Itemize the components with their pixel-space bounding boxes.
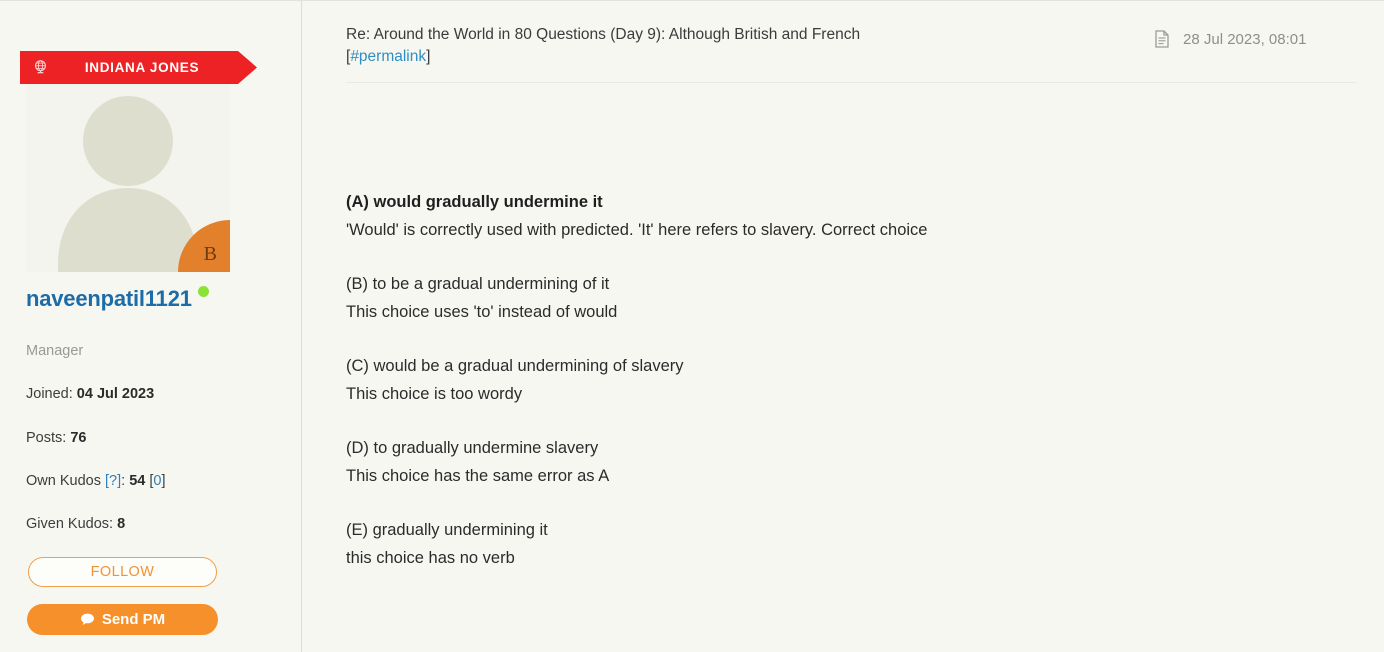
forum-post-page: INDIANA JONES B naveenpatil1121 Manager …: [0, 0, 1384, 652]
author-username[interactable]: naveenpatil1121: [26, 288, 192, 310]
online-status-indicator: [198, 286, 209, 297]
author-sidebar: INDIANA JONES B naveenpatil1121 Manager …: [0, 0, 302, 652]
post-title: Re: Around the World in 80 Questions (Da…: [346, 24, 1136, 46]
stat-given-kudos: Given Kudos: 8: [26, 516, 125, 532]
answer-explanation-text: this choice has no verb: [346, 544, 1306, 572]
globe-icon: [32, 59, 49, 76]
answer-choice-text: (D) to gradually undermine slavery: [346, 434, 1306, 462]
stat-posts-label: Posts:: [26, 430, 66, 446]
post-timestamp-text: 28 Jul 2023, 08:01: [1183, 31, 1306, 48]
answer-explanation-text: This choice uses 'to' instead of would: [346, 298, 1306, 326]
post-header: Re: Around the World in 80 Questions (Da…: [346, 24, 1136, 68]
stat-given-kudos-label: Given Kudos:: [26, 516, 113, 532]
stat-joined-label: Joined:: [26, 386, 73, 402]
permalink-link[interactable]: #permalink: [350, 48, 426, 65]
stat-own-kudos-label: Own Kudos: [26, 473, 101, 489]
answer-choice-text: (B) to be a gradual undermining of it: [346, 270, 1306, 298]
post-timestamp: 28 Jul 2023, 08:01: [1154, 30, 1306, 48]
answer-explanation-text: This choice is too wordy: [346, 380, 1306, 408]
follow-button[interactable]: FOLLOW: [28, 557, 217, 587]
rank-badge-label: INDIANA JONES: [49, 60, 257, 75]
stat-given-kudos-value: 8: [117, 516, 125, 532]
author-username-row[interactable]: naveenpatil1121: [26, 288, 209, 310]
stat-joined-value: 04 Jul 2023: [77, 386, 154, 402]
header-divider: [346, 82, 1356, 83]
send-pm-button[interactable]: Send PM: [27, 604, 218, 635]
permalink-bracket-close: ]: [426, 48, 430, 65]
stat-own-kudos-separator: :: [121, 473, 125, 489]
stat-posts: Posts: 76: [26, 430, 86, 446]
answer-choice-block: (A) would gradually undermine it 'Would'…: [346, 188, 1306, 244]
answer-choice-text: (E) gradually undermining it: [346, 516, 1306, 544]
avatar[interactable]: B: [26, 68, 230, 272]
answer-choice-block: (C) would be a gradual undermining of sl…: [346, 352, 1306, 408]
stat-posts-value: 76: [70, 430, 86, 446]
answer-explanation-text: This choice has the same error as A: [346, 462, 1306, 490]
send-pm-label: Send PM: [102, 611, 165, 628]
answer-choice-block: (D) to gradually undermine slavery This …: [346, 434, 1306, 490]
kudos-help-link[interactable]: [?]: [105, 473, 121, 489]
chat-bubble-icon: [80, 612, 95, 627]
stat-own-kudos: Own Kudos [?]: 54 [0]: [26, 473, 166, 489]
author-role: Manager: [26, 343, 83, 359]
post-content-area: Re: Around the World in 80 Questions (Da…: [302, 0, 1384, 652]
answer-choice-block: (B) to be a gradual undermining of it Th…: [346, 270, 1306, 326]
answer-explanation-text: 'Would' is correctly used with predicted…: [346, 216, 1306, 244]
permalink-line: [#permalink]: [346, 46, 1136, 68]
answer-choice-block: (E) gradually undermining it this choice…: [346, 516, 1306, 572]
rank-badge: INDIANA JONES: [20, 51, 257, 84]
stat-joined: Joined: 04 Jul 2023: [26, 386, 154, 402]
post-body: (A) would gradually undermine it 'Would'…: [346, 188, 1306, 572]
stat-own-kudos-value: 54: [129, 473, 145, 489]
answer-choice-text: (A) would gradually undermine it: [346, 188, 1306, 216]
document-icon: [1154, 30, 1170, 48]
stat-own-kudos-extra-close: ]: [161, 473, 165, 489]
answer-choice-text: (C) would be a gradual undermining of sl…: [346, 352, 1306, 380]
